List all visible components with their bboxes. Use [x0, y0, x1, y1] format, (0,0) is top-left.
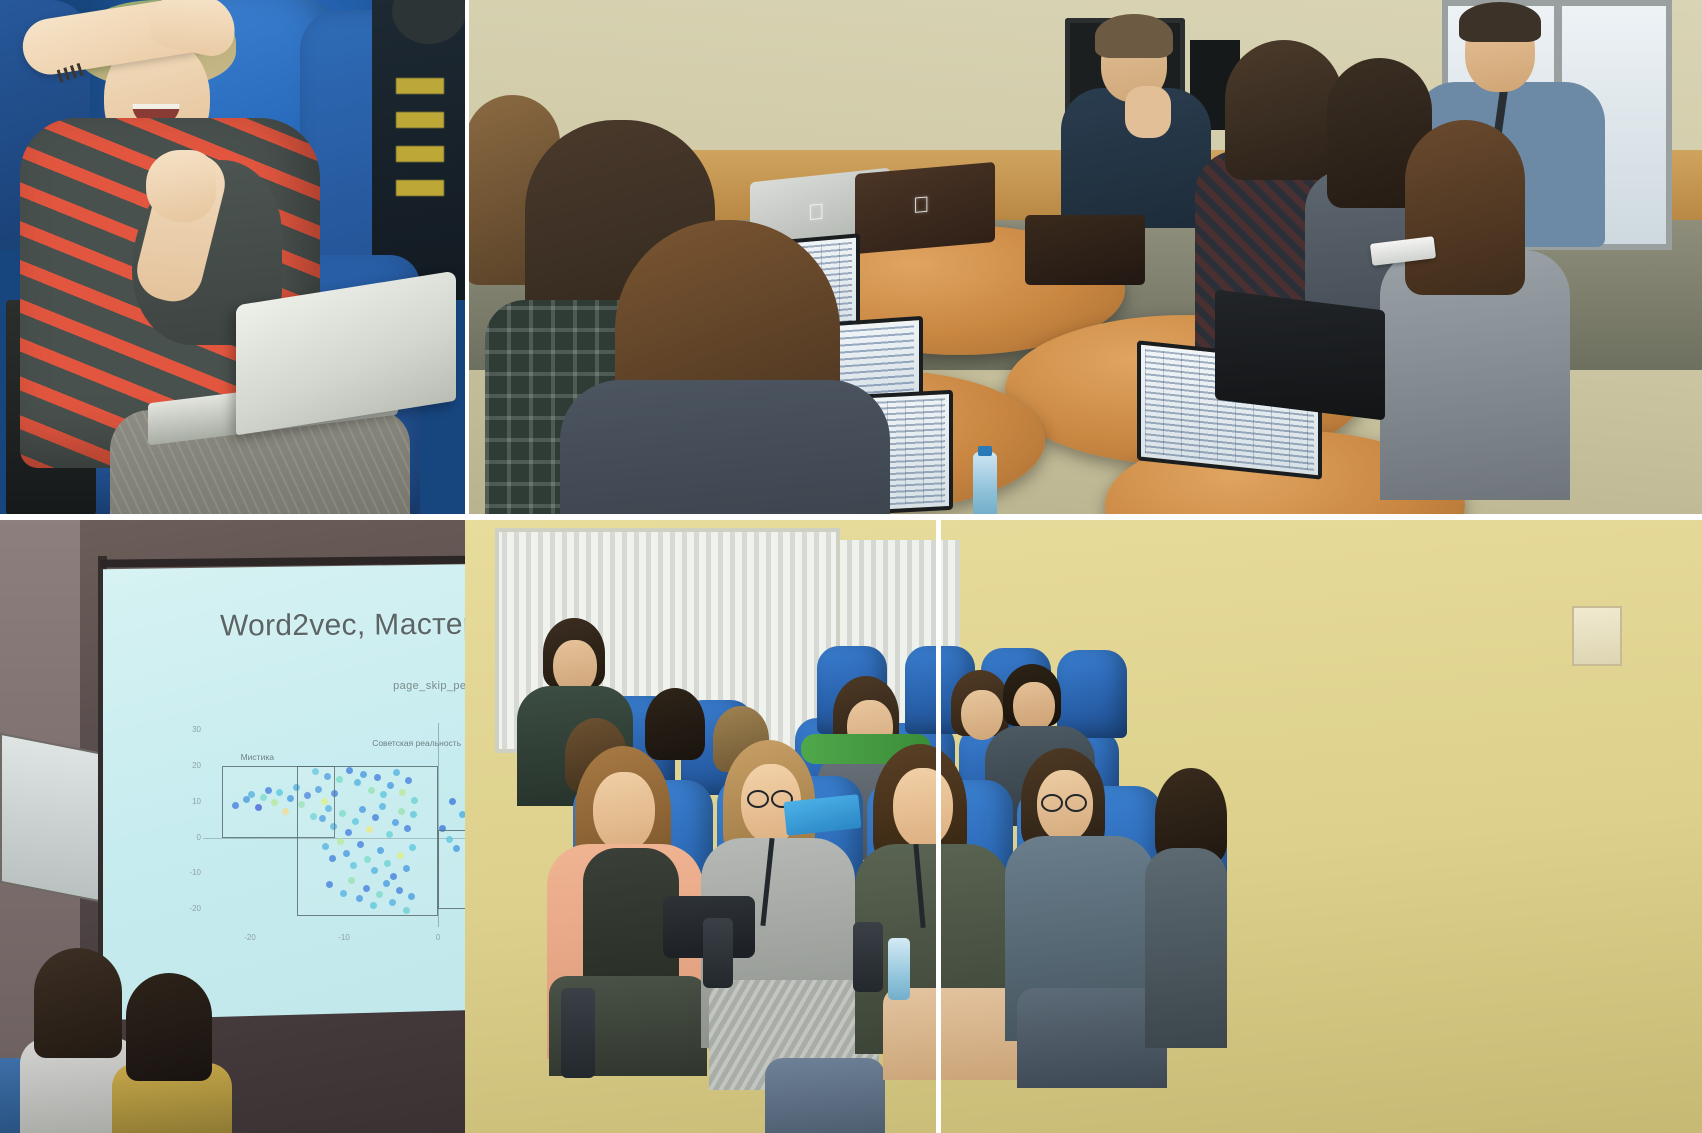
- x-axis-labels: -20-1001020: [173, 933, 465, 949]
- laptop-lid: : [855, 162, 995, 254]
- panel-laughing-attendee: [0, 0, 465, 518]
- laptop-lid: [1025, 215, 1145, 285]
- projection-screen: Word2vec, Мастер и Маргарита page_skip_p…: [103, 560, 465, 1020]
- slide-title: Word2vec, Мастер и Маргарита: [103, 606, 465, 645]
- panel-divider: [0, 514, 940, 520]
- panel-workshop-tables:  : [465, 0, 1702, 518]
- panel-divider: [940, 514, 1702, 520]
- audience-hair: [126, 973, 212, 1081]
- y-axis-tick: 20: [177, 761, 201, 770]
- participant-hair: [1459, 2, 1541, 42]
- y-axis-tick: 10: [177, 797, 201, 806]
- wall-switch-panel: [1572, 606, 1622, 666]
- x-axis-tick: -20: [236, 933, 264, 942]
- tshirt-print: [396, 78, 444, 203]
- audience-hair: [645, 688, 705, 760]
- seat-armrest: [703, 918, 733, 988]
- apple-logo-icon: : [913, 194, 930, 217]
- y-axis-tick: -10: [177, 868, 201, 877]
- audience-face: [593, 772, 655, 852]
- scatter-plot: 3020100-10-20 МистикаСоветская реальност…: [173, 715, 465, 1005]
- panel-divider: [936, 518, 941, 1133]
- attendee-hand: [146, 150, 216, 222]
- laptop-lid: [1215, 290, 1385, 421]
- jeans: [765, 1058, 885, 1133]
- panel-auditorium-audience: [465, 518, 1702, 1133]
- y-axis-tick: 0: [177, 833, 201, 842]
- y-axis-tick: 30: [177, 725, 201, 734]
- audience-face: [961, 690, 1003, 740]
- cluster-label: Советская реальность: [372, 738, 461, 748]
- apple-logo-icon: : [808, 201, 825, 225]
- participant-hair: [1225, 40, 1343, 180]
- panel-talk-projector-slide: Word2vec, Мастер и Маргарита page_skip_p…: [0, 518, 465, 1133]
- audience-face: [893, 768, 953, 848]
- audience-torso: [1145, 848, 1227, 1048]
- x-axis-tick: -10: [330, 933, 358, 942]
- bottle-cap: [978, 446, 992, 456]
- participant-torso: [560, 380, 890, 518]
- water-bottle: [888, 938, 910, 1000]
- audience-hair: [34, 948, 122, 1058]
- x-axis-tick: 0: [424, 933, 452, 942]
- cluster-box: [438, 830, 465, 909]
- eyeglasses-icon: [1041, 794, 1087, 808]
- auditorium-seat: [1057, 650, 1127, 738]
- participant-hair: [1405, 120, 1525, 295]
- photo-collage:   Word2vec,: [0, 0, 1702, 1133]
- seat-armrest: [561, 988, 595, 1078]
- water-bottle: [973, 452, 997, 518]
- whiteboard: [0, 733, 105, 903]
- participant-hair: [1095, 14, 1173, 58]
- y-axis-tick: -20: [177, 904, 201, 913]
- cluster-box: [297, 766, 438, 916]
- participant-hands: [1125, 86, 1171, 138]
- audience-face: [1013, 682, 1055, 732]
- panel-divider: [465, 0, 469, 518]
- cluster-label: Мистика: [241, 752, 274, 762]
- scatter-point: [449, 798, 456, 805]
- chart-subtitle: page_skip_percent: [103, 680, 465, 692]
- seat-armrest: [853, 922, 883, 992]
